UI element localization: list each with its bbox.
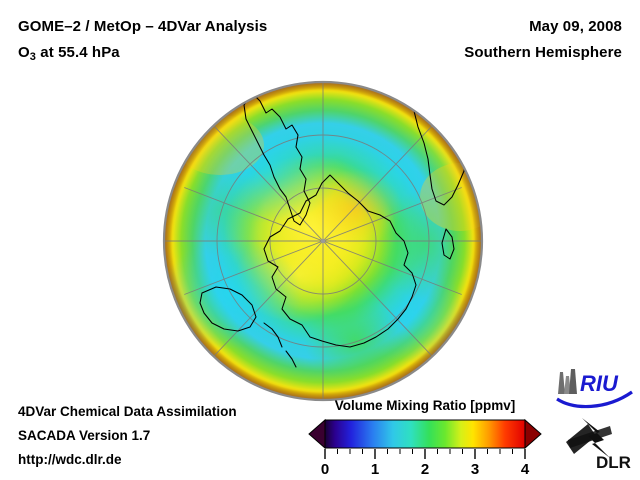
colorbar-gradient bbox=[325, 420, 525, 448]
colorbar-tick-labels: 0 1 2 3 4 bbox=[321, 461, 530, 476]
riu-logo: RIU bbox=[557, 369, 632, 407]
dlr-wordmark: DLR bbox=[596, 453, 631, 472]
analysis-title: GOME–2 / MetOp – 4DVar Analysis bbox=[18, 18, 267, 35]
globe-map bbox=[160, 79, 486, 405]
species-subscript: 3 bbox=[30, 51, 36, 63]
colorbar-svg: 0 1 2 3 4 bbox=[300, 418, 550, 476]
species-level-label: O3 at 55.4 hPa bbox=[18, 44, 120, 61]
species-symbol: O bbox=[18, 44, 30, 61]
colorbar-tick-1: 1 bbox=[371, 461, 379, 476]
colorbar-tick-2: 2 bbox=[421, 461, 429, 476]
footer-line-version: SACADA Version 1.7 bbox=[18, 428, 150, 443]
colorbar-tick-0: 0 bbox=[321, 461, 329, 476]
logo-group: RIU DLR bbox=[552, 366, 638, 474]
region-label: Southern Hemisphere bbox=[464, 44, 622, 61]
riu-wordmark: RIU bbox=[580, 371, 619, 396]
colorbar-major-ticks bbox=[325, 449, 525, 459]
dlr-logo: DLR bbox=[566, 418, 631, 472]
colorbar-title: Volume Mixing Ratio [ppmv] bbox=[300, 398, 550, 413]
footer-line-url: http://wdc.dlr.de bbox=[18, 452, 122, 467]
colorbar-tick-3: 3 bbox=[471, 461, 479, 476]
colorbar-tick-4: 4 bbox=[521, 461, 530, 476]
south-pole-marker bbox=[321, 239, 325, 243]
colorbar-arrow-high bbox=[525, 420, 541, 448]
logos-svg: RIU DLR bbox=[552, 366, 638, 474]
colorbar: Volume Mixing Ratio [ppmv] bbox=[300, 398, 550, 476]
colorbar-arrow-low bbox=[309, 420, 325, 448]
globe-svg bbox=[160, 79, 486, 405]
date-label: May 09, 2008 bbox=[529, 18, 622, 35]
footer-line-assimilation: 4DVar Chemical Data Assimilation bbox=[18, 404, 237, 419]
pressure-level: at 55.4 hPa bbox=[36, 44, 120, 61]
